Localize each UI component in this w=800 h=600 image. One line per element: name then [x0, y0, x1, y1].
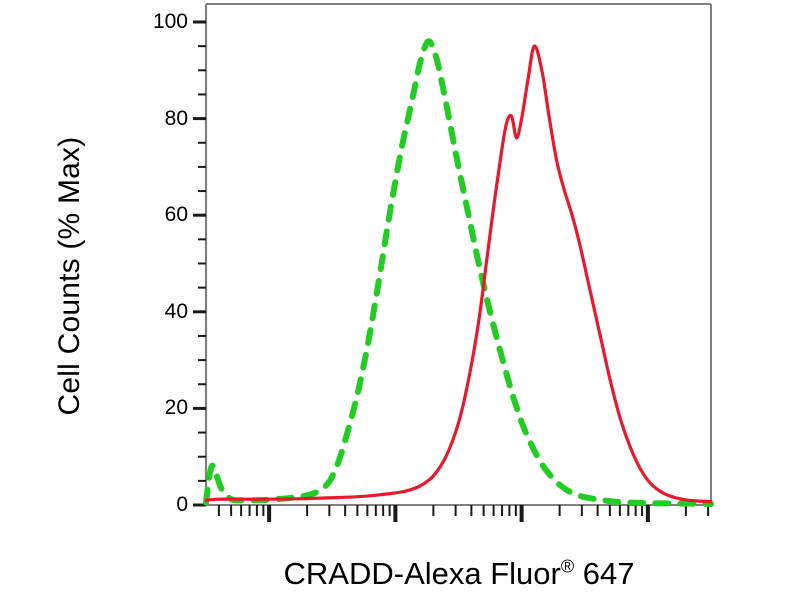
registered-trademark-icon: ®: [561, 557, 574, 577]
flow-cytometry-figure: Cell Counts (% Max) 020406080100 CRADD-A…: [0, 0, 800, 600]
histogram-plot-area: [0, 0, 800, 600]
curve-cradd-antibody: [206, 46, 711, 502]
x-axis-label-main: CRADD-Alexa Fluor: [284, 556, 561, 591]
histogram-curves: [206, 41, 711, 504]
x-axis-ticks: [219, 505, 708, 522]
x-axis-label-tail: 647: [574, 556, 634, 591]
y-axis-ticks: [193, 22, 206, 505]
plot-frame: [206, 4, 711, 505]
x-axis-label: CRADD-Alexa Fluor® 647: [206, 556, 712, 592]
curve-isotype-control: [206, 41, 711, 504]
